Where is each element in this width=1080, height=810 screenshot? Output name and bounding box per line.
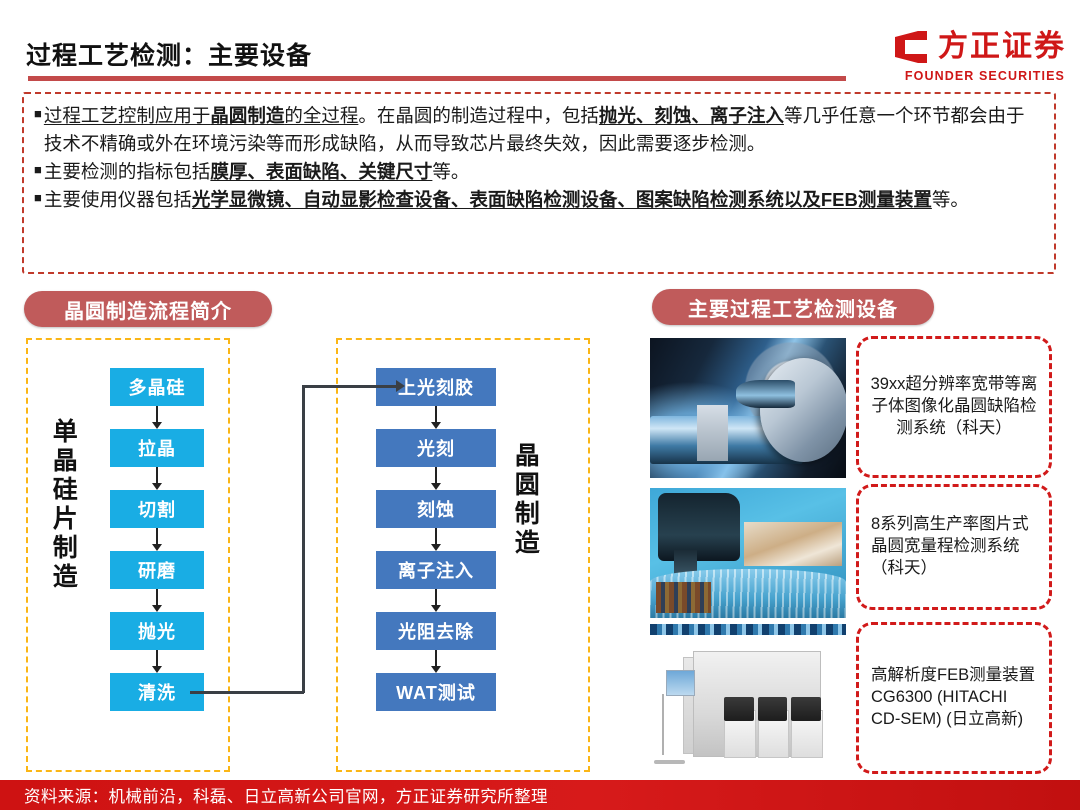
slide-canvas: 过程工艺检测：主要设备 方正证券 FOUNDER SECURITIES ■ 过程… [0,0,1080,810]
flow-box-1: 多晶硅 [110,368,204,406]
flow-arrowhead-icon [431,422,441,429]
flow-arrowhead-icon [431,483,441,490]
plasma-wafer-inspection-machine-photo [650,338,846,478]
flow-box-3: 刻蚀 [376,490,496,528]
flow-box-label: 研磨 [138,557,176,583]
flow-box-label: 上光刻胶 [398,374,474,400]
flow-arrow-shaft [156,650,158,667]
flow-arrow-shaft [435,650,437,667]
flow-box-label: 光阻去除 [398,618,474,644]
bullet-text-1: 过程工艺控制应用于晶圆制造的全过程。在晶圆的制造过程中，包括抛光、刻蚀、离子注入… [44,102,1042,158]
flow-box-6: WAT测试 [376,673,496,711]
bullet-item: ■ 主要使用仪器包括光学显微镜、自动显影检查设备、表面缺陷检测设备、图案缺陷检测… [34,186,1042,214]
flow-box-label: 刻蚀 [417,496,455,522]
connector-segment-horizontal-bottom [190,691,304,694]
flow-arrow-shaft [156,528,158,545]
summary-text-panel: ■ 过程工艺控制应用于晶圆制造的全过程。在晶圆的制造过程中，包括抛光、刻蚀、离子… [22,92,1056,274]
flow-box-label: 多晶硅 [129,374,186,400]
bullet-item: ■ 过程工艺控制应用于晶圆制造的全过程。在晶圆的制造过程中，包括抛光、刻蚀、离子… [34,102,1042,158]
flow-arrowhead-icon [152,483,162,490]
flow-box-2: 光刻 [376,429,496,467]
flow-arrowhead-icon [152,666,162,673]
flow-box-4: 离子注入 [376,551,496,589]
flow-arrowhead-icon [152,544,162,551]
flow-box-label: 离子注入 [398,557,474,583]
equipment-callout-1: 39xx超分辨率宽带等离子体图像化晶圆缺陷检测系统（科天） [856,336,1052,478]
connector-segment-vertical [302,385,305,693]
flow-box-label: 拉晶 [138,435,176,461]
flow-right-vertical-label: 晶圆制造 [512,442,538,558]
source-footer: 资料来源：机械前沿，科磊、日立高新公司官网，方正证券研究所整理 [0,780,1080,810]
connector-arrowhead-icon [396,380,405,392]
source-text: 资料来源：机械前沿，科磊、日立高新公司官网，方正证券研究所整理 [24,783,548,807]
flow-box-label: 光刻 [417,435,455,461]
flow-box-5: 光阻去除 [376,612,496,650]
bullet-square-icon: ■ [34,158,42,183]
flow-arrow-shaft [156,467,158,484]
founder-securities-mark-icon [892,28,930,66]
title-underline-rule [28,76,846,81]
flow-arrow-shaft [435,467,437,484]
equipment-callout-2: 8系列高生产率图片式晶圆宽量程检测系统（科天） [856,484,1052,610]
flow-box-2: 拉晶 [110,429,204,467]
flow-arrow-shaft [156,589,158,606]
flow-arrow-shaft [435,589,437,606]
page-title: 过程工艺检测：主要设备 [26,36,312,72]
flow-arrow-shaft [435,406,437,423]
flow-box-label: 抛光 [138,618,176,644]
flow-box-label: 清洗 [138,679,176,705]
flow-box-label: 切割 [138,496,176,522]
flow-box-3: 切割 [110,490,204,528]
flow-arrow-shaft [435,528,437,545]
bullet-text-2: 主要检测的指标包括膜厚、表面缺陷、关键尺寸等。 [44,158,1042,186]
bullet-text-3: 主要使用仪器包括光学显微镜、自动显影检查设备、表面缺陷检测设备、图案缺陷检测系统… [44,186,1042,214]
bullet-square-icon: ■ [34,102,42,127]
section-header-inspection-equipment: 主要过程工艺检测设备 [652,289,934,325]
flow-left-vertical-label: 单晶硅片制造 [50,418,76,592]
bullet-square-icon: ■ [34,186,42,211]
wafer-microscope-inspection-photo [650,488,846,618]
flow-arrowhead-icon [431,605,441,612]
flow-box-5: 抛光 [110,612,204,650]
logo-english-name: FOUNDER SECURITIES [905,69,1065,83]
bullet-item: ■ 主要检测的指标包括膜厚、表面缺陷、关键尺寸等。 [34,158,1042,186]
flow-arrowhead-icon [431,666,441,673]
connector-segment-horizontal-top [302,385,400,388]
flow-box-label: WAT测试 [396,679,476,705]
flow-arrowhead-icon [152,605,162,612]
equipment-callout-3: 高解析度FEB测量装置CG6300 (HITACHI CD-SEM) (日立高新… [856,622,1052,774]
logo-chinese-name: 方正证券 [938,32,1066,62]
cd-sem-measurement-equipment-photo [650,624,846,776]
flow-arrowhead-icon [152,422,162,429]
flow-arrowhead-icon [431,544,441,551]
flow-arrow-shaft [156,406,158,423]
company-logo: 方正证券 FOUNDER SECURITIES [892,28,1066,83]
flow-box-4: 研磨 [110,551,204,589]
section-header-wafer-flow: 晶圆制造流程简介 [24,291,272,327]
